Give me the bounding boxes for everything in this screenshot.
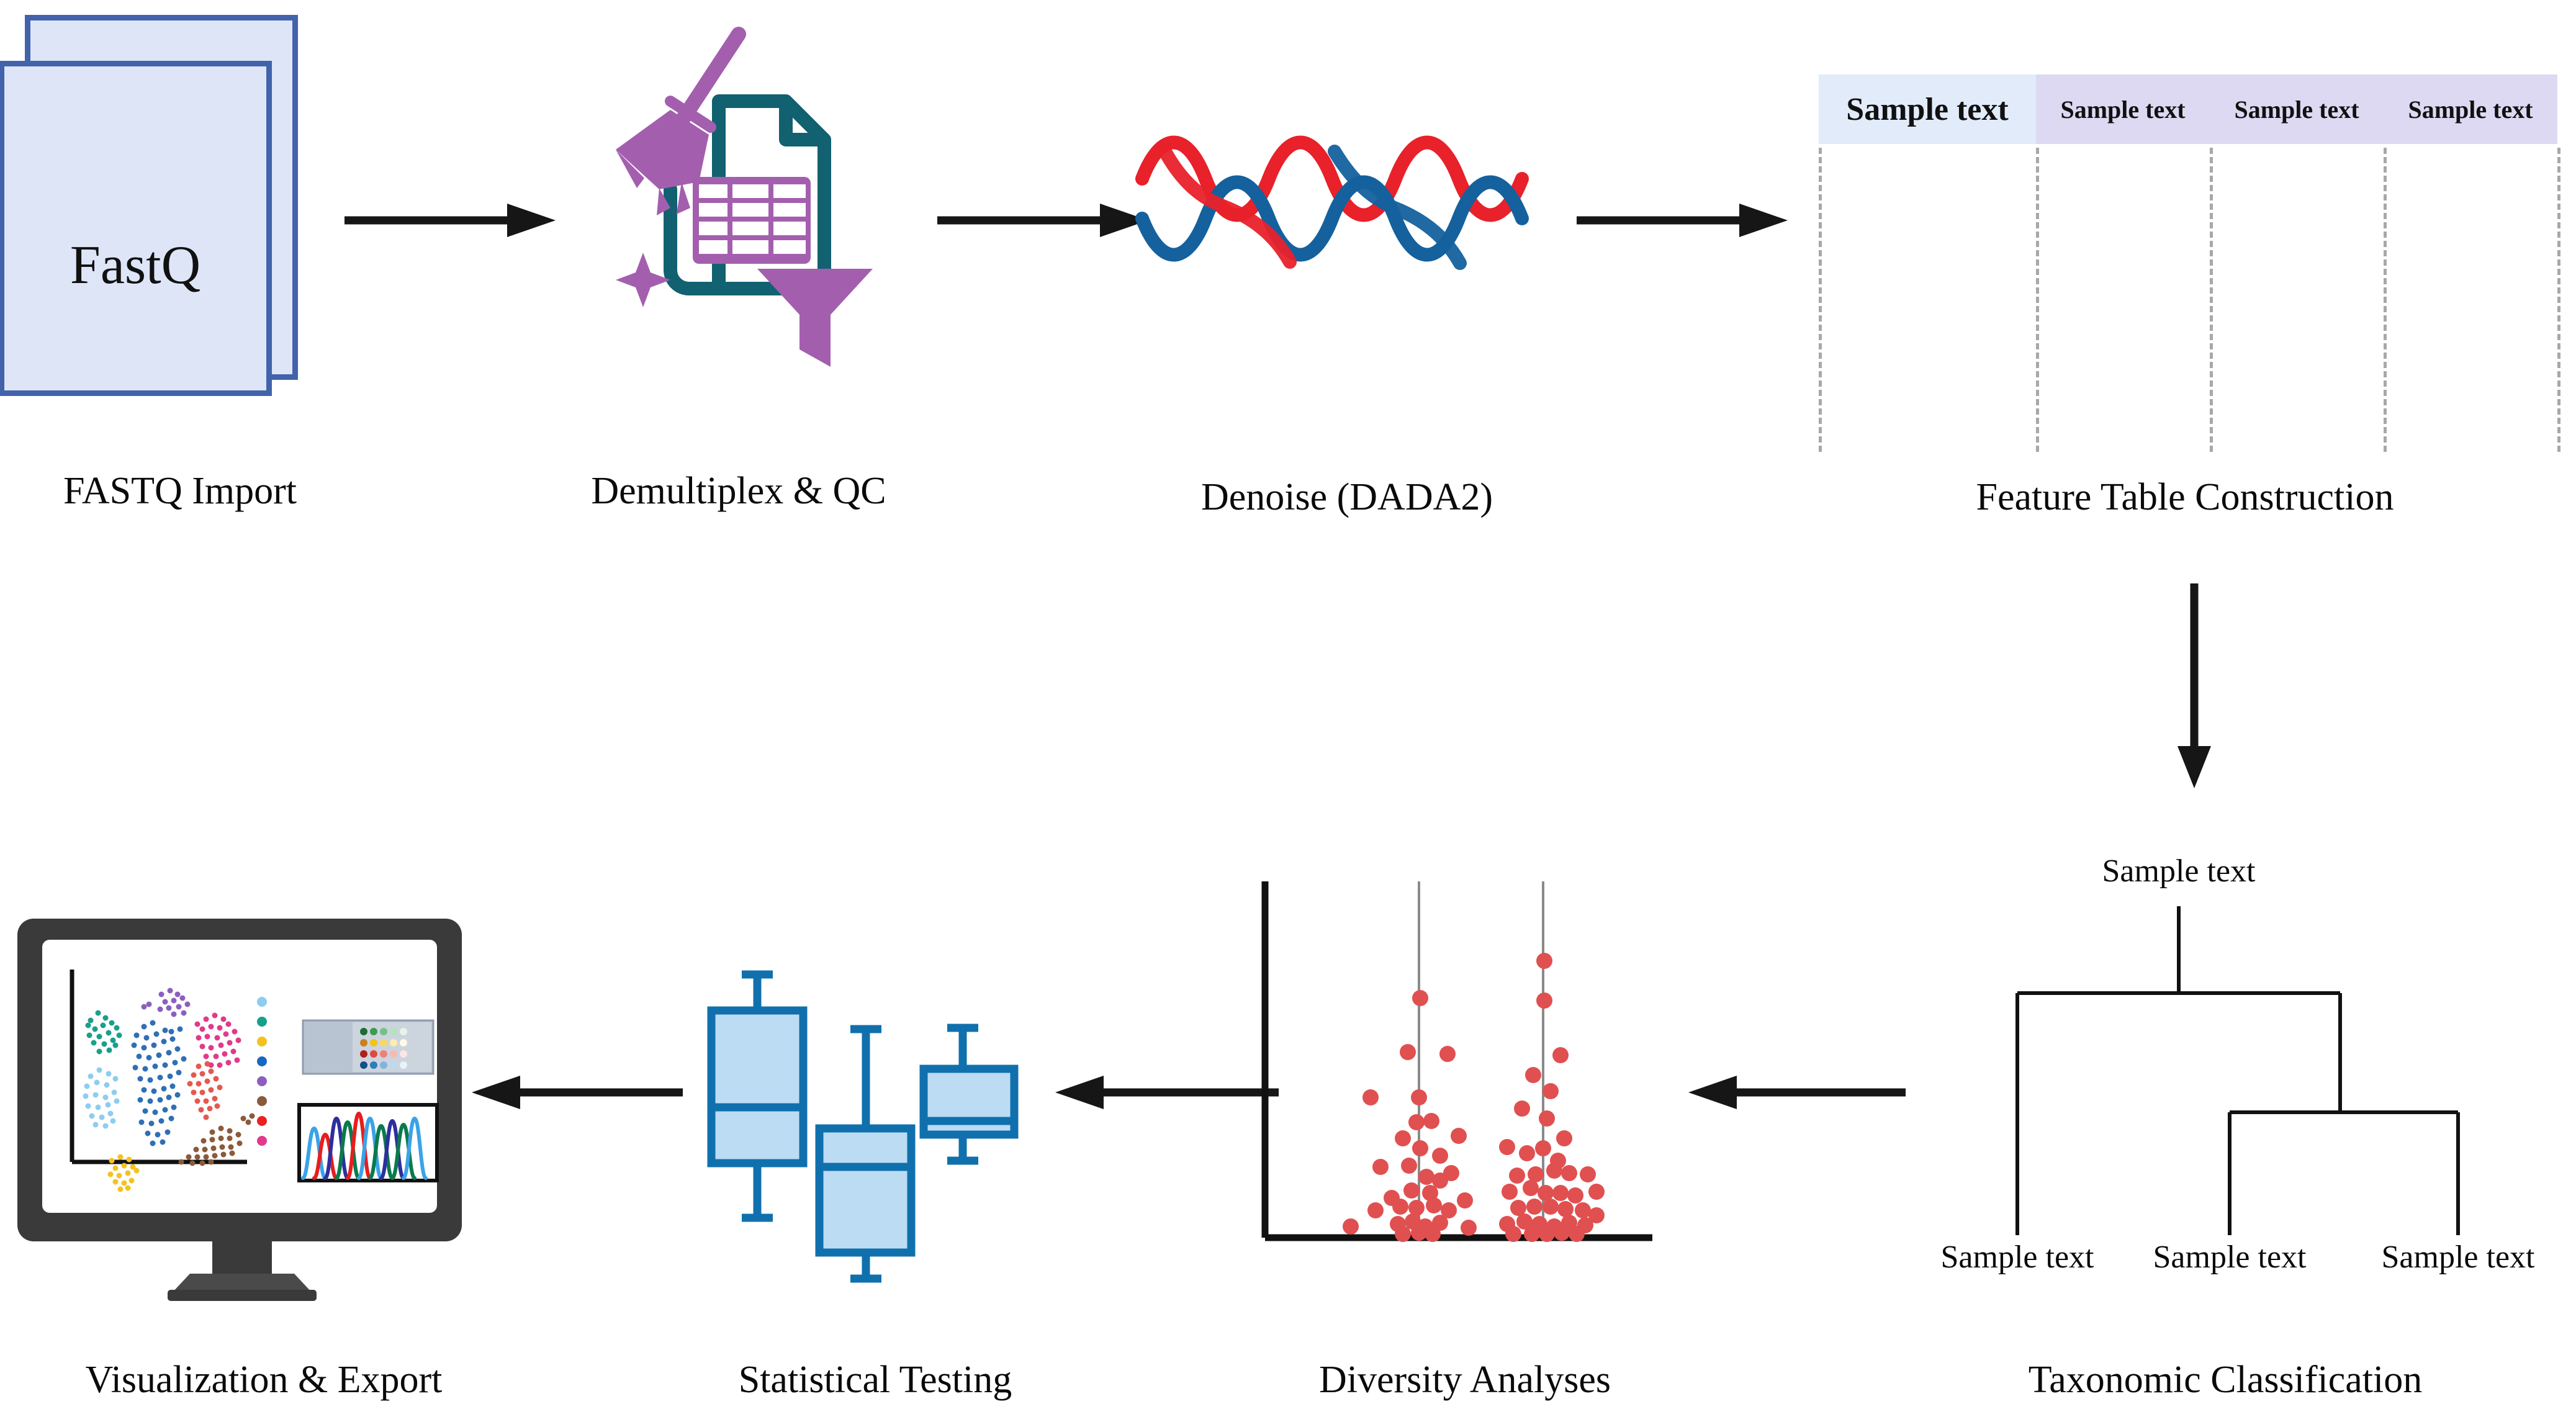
caption-demultiplex-qc: Demultiplex & QC xyxy=(559,472,919,510)
boxplot-icon xyxy=(701,962,1030,1310)
arrow-down xyxy=(2173,583,2216,788)
feature-table-divider-2 xyxy=(2036,148,2039,452)
legend-dot-4 xyxy=(257,1056,267,1066)
scatter-points xyxy=(1343,953,1605,1242)
color-palette-panel xyxy=(303,1020,433,1074)
feature-table-header-cell-2: Sample text xyxy=(2036,74,2210,144)
monitor-icon xyxy=(12,914,472,1305)
fastq-label: FastQ xyxy=(4,234,266,297)
feature-table-divider-1 xyxy=(1819,148,1822,452)
legend-dot-5 xyxy=(257,1076,267,1086)
legend-dot-8 xyxy=(257,1136,267,1146)
legend-dot-2 xyxy=(257,1017,267,1027)
arrow-right-1 xyxy=(345,199,556,242)
caption-statistical-testing: Statistical Testing xyxy=(652,1361,1099,1399)
boxplot-1 xyxy=(711,974,803,1218)
funnel-icon xyxy=(757,269,873,367)
dna-double-helix-icon xyxy=(1130,124,1552,310)
feature-table-divider-4 xyxy=(2384,148,2387,452)
arrow-left-2 xyxy=(1055,1071,1279,1114)
feature-table-divider-5 xyxy=(2557,148,2560,452)
feature-table-divider-3 xyxy=(2210,148,2213,452)
caption-denoise: Denoise (DADA2) xyxy=(1161,478,1533,516)
feature-table-icon: Sample text Sample text Sample text Samp… xyxy=(1819,74,2557,453)
data-cleaning-icon xyxy=(577,22,900,382)
table-grid-icon xyxy=(693,177,811,264)
boxplot-3 xyxy=(924,1028,1014,1161)
arrow-right-3 xyxy=(1577,199,1788,242)
legend-dot-3 xyxy=(257,1037,267,1046)
arrow-left-1 xyxy=(472,1071,683,1114)
feature-table-header-cell-3: Sample text xyxy=(2210,74,2384,144)
feature-table-header-cell-1: Sample text xyxy=(1819,74,2036,144)
fastq-document-front: FastQ xyxy=(0,61,272,396)
legend-dot-1 xyxy=(257,997,267,1007)
chromatogram-panel xyxy=(299,1105,437,1181)
caption-fastq-import: FASTQ Import xyxy=(0,472,360,510)
arrow-left-3 xyxy=(1688,1071,1906,1114)
dendrogram-icon xyxy=(1912,838,2533,1285)
caption-taxonomy: Taxonomic Classification xyxy=(1887,1361,2564,1399)
caption-feature-table: Feature Table Construction xyxy=(1813,478,2557,516)
fastq-documents-icon: FastQ xyxy=(6,6,317,403)
feature-table-header-row: Sample text Sample text Sample text Samp… xyxy=(1819,74,2557,144)
legend-dot-7 xyxy=(257,1116,267,1126)
caption-diversity: Diversity Analyses xyxy=(1254,1361,1676,1399)
feature-table-header-cell-4: Sample text xyxy=(2384,74,2557,144)
caption-visualization: Visualization & Export xyxy=(0,1361,528,1399)
sparkle-icon xyxy=(616,253,670,307)
scatter-strip-plot-icon xyxy=(1254,875,1664,1260)
legend-dot-6 xyxy=(257,1096,267,1106)
dendrogram-leaf-label-3: Sample text xyxy=(2297,1241,2576,1274)
arrow-right-2 xyxy=(937,199,1148,242)
workflow-diagram: FastQ xyxy=(0,0,2576,1422)
boxplot-2 xyxy=(819,1029,911,1279)
dendrogram-root-label: Sample text xyxy=(1968,855,2390,888)
